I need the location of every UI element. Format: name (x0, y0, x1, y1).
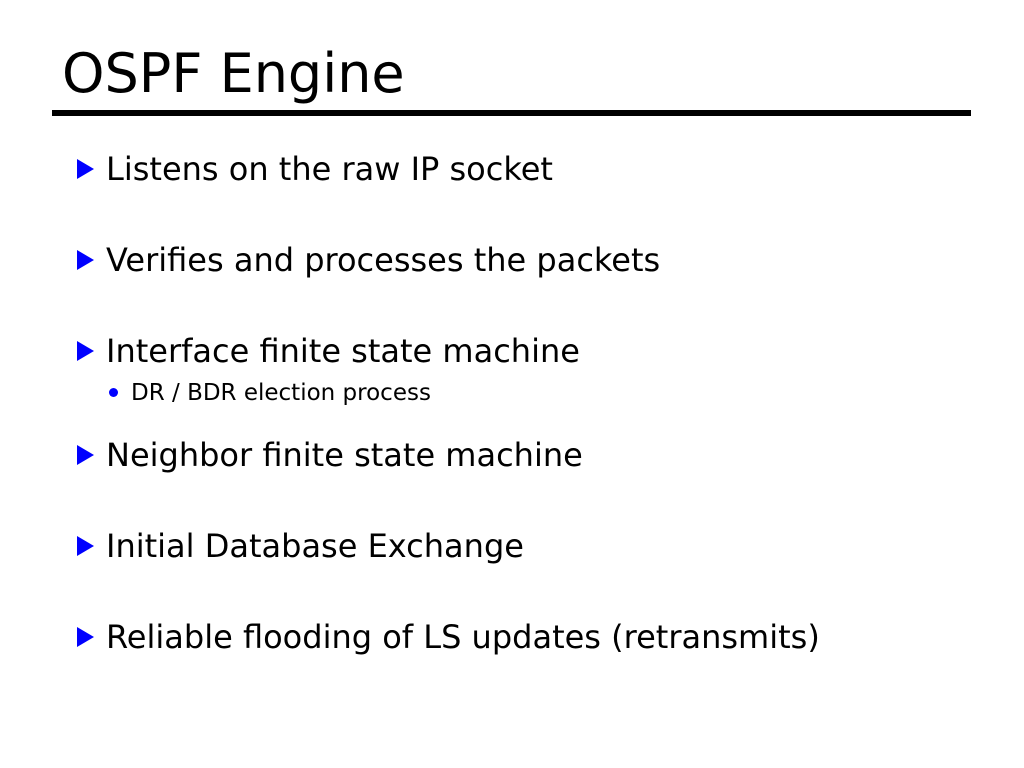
list-item-label: Listens on the raw IP socket (106, 148, 553, 190)
sub-list-item-label: DR / BDR election process (131, 378, 431, 408)
sub-list-item: DR / BDR election process (70, 378, 1010, 434)
triangle-right-icon (77, 616, 96, 648)
list-item-label: Interface finite state machine (106, 330, 580, 372)
presentation-slide: OSPF Engine Listens on the raw IP socket… (0, 0, 1024, 768)
list-item: Verifies and processes the packets (70, 239, 1010, 330)
page-title: OSPF Engine (52, 44, 972, 104)
list-item: Initial Database Exchange (70, 525, 1010, 616)
list-item: Reliable flooding of LS updates (retrans… (70, 616, 1010, 707)
dot-bullet-icon (108, 378, 124, 404)
list-item-label: Verifies and processes the packets (106, 239, 660, 281)
triangle-right-icon (77, 525, 96, 557)
triangle-right-icon (77, 330, 96, 362)
bullet-list: Listens on the raw IP socket Verifies an… (70, 148, 1010, 707)
list-item: Listens on the raw IP socket (70, 148, 1010, 239)
list-item-label: Initial Database Exchange (106, 525, 524, 567)
list-item-label: Reliable flooding of LS updates (retrans… (106, 616, 820, 658)
list-item-label: Neighbor finite state machine (106, 434, 583, 476)
triangle-right-icon (77, 434, 96, 466)
list-item: Neighbor finite state machine (70, 434, 1010, 525)
title-divider-rule (52, 110, 971, 116)
triangle-right-icon (77, 239, 96, 271)
triangle-right-icon (77, 148, 96, 180)
list-item: Interface finite state machine (70, 330, 1010, 378)
title-block: OSPF Engine (52, 44, 972, 104)
